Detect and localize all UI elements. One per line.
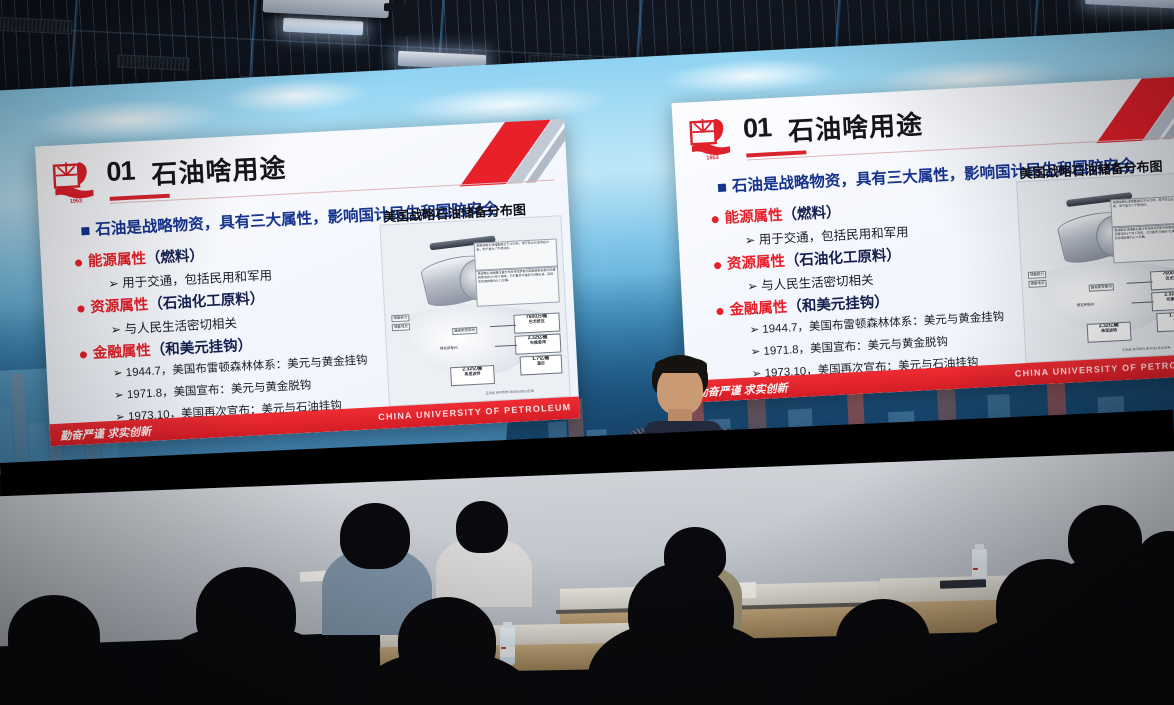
attribute-key: 能源属性 — [88, 251, 147, 270]
corner-decoration — [1051, 76, 1174, 146]
bullet-dot-icon — [714, 262, 721, 269]
attribute-key: 资源属性 — [727, 254, 786, 273]
data-name-label: 巴尤舒瓦 — [515, 319, 559, 325]
audience-member-head — [398, 597, 496, 685]
legend-item: 储备能力 — [1030, 272, 1044, 277]
slide-title: 石油啥用途 — [151, 148, 288, 192]
audience-member-head — [456, 501, 508, 553]
legend-label: 储备地点 — [392, 323, 410, 331]
attribute-paren: （石油化工原料） — [785, 248, 902, 270]
data-box: 2.32亿桶 弗里波特 — [1087, 322, 1132, 343]
attribute-sub-row: ➢ 1971.8，美国宣布：美元与黄金脱钩 — [750, 333, 948, 359]
bullet-dot-icon — [75, 259, 82, 266]
bottle-cap — [975, 544, 984, 550]
infographic-callout: 美国战略石油储备建立于1975年，用于防止石油供应中断，而不是为了干预油价。 — [1110, 195, 1174, 227]
attribute-sub-row: ➢ 与人民生活密切相关 — [110, 312, 237, 338]
attribute-paren: （和美元挂钩） — [150, 338, 252, 359]
attribute-key: 能源属性 — [724, 208, 783, 227]
audience-member-head — [628, 563, 734, 659]
sub-text: 1971.8，美国宣布：美元与黄金脱钩 — [127, 380, 312, 402]
attribute-row: 资源属性（石油化工原料） — [77, 287, 265, 318]
bullet-dot-icon — [80, 351, 87, 358]
attribute-row: 能源属性（燃料） — [74, 244, 204, 272]
attribute-sub-row: ➢ 与人民生活密切相关 — [747, 269, 874, 295]
infographic-callout: 美战略石油储备主要分布在得克萨斯州和路易斯安那州沿墨西哥湾的4个地下洞库，它们最… — [475, 266, 560, 306]
map-state-label: 路易斯安那州 — [452, 327, 477, 335]
laptop — [940, 579, 986, 589]
corner-decoration — [414, 119, 567, 189]
data-box: 7600万桶 巴尤舒瓦 — [513, 312, 560, 333]
state-name: 路易斯安那州 — [1091, 285, 1112, 290]
attribute-row: 资源属性（石油化工原料） — [713, 244, 901, 275]
attribute-key: 金融属性 — [92, 343, 151, 362]
arrow-bullet-icon: ➢ — [114, 389, 127, 402]
legend-item: 储备地点 — [1030, 281, 1044, 286]
bottle-cap — [503, 622, 512, 628]
slide-left[interactable]: 1953 01 石油啥用途 石油是战略物资，具有三大属性，影响国计民生和国防安全… — [35, 119, 580, 446]
attribute-paren: （石油化工原料） — [148, 291, 265, 313]
attribute-key: 金融属性 — [729, 300, 788, 319]
sub-text: 与人民生活密切相关 — [761, 273, 874, 293]
cloud — [659, 54, 841, 97]
arrow-bullet-icon: ➢ — [113, 367, 126, 380]
audience-member-head — [8, 595, 100, 677]
bottle-label — [500, 646, 515, 657]
arrow-bullet-icon: ➢ — [110, 322, 125, 337]
data-box: 7600万桶 巴尤舒瓦 — [1150, 269, 1174, 290]
section-number: 01 — [106, 156, 136, 188]
cloud — [31, 95, 223, 145]
infographic-credit: 王永前 林平制作 新华社4月28日电 — [1122, 345, 1171, 353]
bullet-dot-icon — [712, 216, 719, 223]
arrow-bullet-icon: ➢ — [747, 279, 762, 294]
audience-area — [0, 475, 1174, 705]
sub-text: 1971.8，美国宣布：美元与黄金脱钩 — [763, 336, 948, 358]
bullet-dot-icon — [716, 308, 723, 315]
attribute-sub-row: ➢ 1971.8，美国宣布：美元与黄金脱钩 — [114, 377, 312, 403]
legend-item: 储备地点 — [394, 324, 408, 329]
arrow-bullet-icon: ➢ — [744, 233, 759, 248]
legend-item: 储备能力 — [393, 315, 407, 320]
cloud — [220, 75, 372, 117]
audience-member-head — [996, 559, 1100, 653]
footer-motto: 勤奋严谨 求实创新 — [60, 423, 152, 444]
slide-title: 石油啥用途 — [787, 104, 924, 148]
projector-mount-plate — [384, 3, 418, 13]
attribute-key: 资源属性 — [90, 297, 149, 316]
arrow-bullet-icon: ➢ — [108, 276, 123, 291]
slide-right[interactable]: 1953 01 石油啥用途 石油是战略物资，具有三大属性，影响国计民生和国防安全… — [672, 76, 1174, 403]
infographic-panel: 美国战略石油储备建立于1975年，用于防止石油供应中断，而不是为了干预油价。 美… — [380, 215, 571, 406]
audience-member-head — [836, 599, 930, 683]
attribute-paren: （燃料） — [782, 205, 841, 224]
map-state-label: 得克萨斯州 — [439, 346, 459, 352]
bottle-label — [972, 567, 987, 578]
infographic-callout: 美战略石油储备主要分布在得克萨斯州和路易斯安那州沿墨西哥湾的4个地下洞库，它们最… — [1112, 223, 1174, 263]
presenter-hair-fringe — [655, 357, 707, 373]
data-box: 1.7亿桶 温尼 — [1156, 311, 1174, 332]
svg-text:1953: 1953 — [70, 198, 83, 205]
data-name-label: 弗里波特 — [1088, 328, 1130, 334]
attribute-paren: （燃料） — [146, 248, 205, 267]
data-name-label: 弗里波特 — [451, 371, 493, 377]
headline-bullet-icon — [81, 227, 89, 235]
data-box: 2.32亿桶 布赖恩湾 — [515, 333, 562, 354]
state-name: 得克萨斯州 — [1077, 302, 1095, 307]
audience-member-head — [340, 503, 410, 569]
legend-label: 储备能力 — [1028, 271, 1046, 279]
state-name: 得克萨斯州 — [440, 346, 458, 351]
data-box: 2.32亿桶 布赖恩湾 — [1151, 290, 1174, 311]
attribute-paren: （和美元挂钩） — [787, 294, 889, 315]
svg-text:1953: 1953 — [706, 155, 719, 162]
university-emblem-icon: 1953 — [50, 157, 100, 205]
legend-label: 储备能力 — [391, 314, 409, 322]
university-emblem-icon: 1953 — [686, 114, 736, 162]
lecture-hall-photo: 1953 01 石油啥用途 石油是战略物资，具有三大属性，影响国计民生和国防安全… — [0, 0, 1174, 705]
legend-label: 储备地点 — [1028, 280, 1046, 288]
footer-english: CHINA UNIVERSITY OF PETROLEUM — [378, 402, 572, 422]
infographic-panel: 美国战略石油储备建立于1975年，用于防止石油供应中断，而不是为了干预油价。 美… — [1016, 172, 1174, 363]
map-state-label: 路易斯安那州 — [1089, 283, 1114, 291]
audience-member-head — [196, 567, 296, 659]
data-name-label: 温尼 — [521, 361, 561, 367]
data-box: 1.7亿桶 温尼 — [520, 354, 563, 375]
tab-label: 石油 — [677, 93, 711, 102]
data-box: 2.32亿桶 弗里波特 — [450, 365, 495, 386]
section-number: 01 — [742, 112, 772, 144]
arrow-bullet-icon: ➢ — [749, 324, 762, 337]
state-name: 路易斯安那州 — [454, 328, 475, 333]
slide-tab-chip[interactable]: 石油 — [677, 93, 711, 102]
infographic-credit: 王永前 林平制作 新华社4月28日电 — [485, 388, 534, 396]
sub-text: 与人民生活密切相关 — [124, 316, 237, 336]
footer-english: CHINA UNIVERSITY OF PETROLEUM — [1015, 359, 1174, 379]
projector-mount — [394, 9, 409, 36]
bullet-dot-icon — [77, 305, 84, 312]
headline-bullet-icon — [718, 184, 726, 192]
audience-member-head — [1068, 505, 1142, 573]
attribute-row: 能源属性（燃料） — [711, 201, 841, 229]
data-name-label: 布赖恩湾 — [516, 340, 560, 346]
infographic-callout: 美国战略石油储备建立于1975年，用于防止石油供应中断，而不是为了干预油价。 — [474, 239, 558, 271]
map-state-label: 得克萨斯州 — [1076, 302, 1096, 308]
